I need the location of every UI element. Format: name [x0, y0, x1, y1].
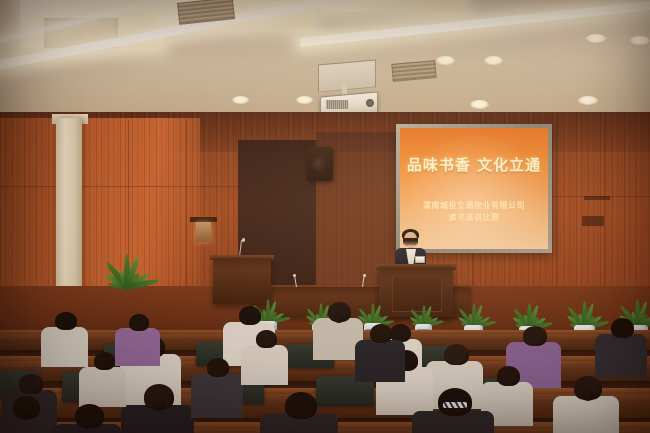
downlight-icon — [586, 34, 606, 43]
audience-member-torso — [41, 327, 88, 367]
audience-member-hair-bow — [443, 402, 467, 408]
wall-speaker-cone-icon — [312, 156, 328, 174]
audience-member-torso — [355, 340, 405, 382]
audience-member-head — [611, 318, 634, 338]
downlight-icon — [232, 96, 249, 104]
audience-member — [120, 314, 158, 352]
audience-member — [600, 318, 644, 362]
slide-subtitle-line-1: 渭南城投立通物业有限公司 — [400, 200, 548, 211]
wall-plaque — [582, 216, 604, 226]
downlight-icon — [436, 56, 455, 65]
audience-member-hair-bun — [334, 314, 344, 322]
projection-screen: 品味书香 文化立通 渭南城投立通物业有限公司 读书演讲比赛 — [396, 124, 552, 253]
audience-member-head — [285, 392, 317, 419]
projector-lens — [366, 99, 374, 107]
slide-title: 品味书香 文化立通 — [400, 154, 548, 175]
audience-member — [196, 358, 240, 402]
audience-seating — [0, 300, 650, 433]
wall-plaque — [584, 196, 610, 200]
audience-member — [486, 366, 530, 410]
audience-member-head — [444, 344, 469, 365]
downlight-icon — [470, 100, 489, 109]
audience-member-head — [497, 366, 520, 386]
audience-member-head — [19, 374, 43, 394]
audience-member-torso — [241, 345, 288, 385]
projection-screen-glow — [400, 128, 548, 249]
projection-screen-surface: 品味书香 文化立通 渭南城投立通物业有限公司 读书演讲比赛 — [400, 128, 548, 249]
wall-light-fixture — [196, 222, 211, 242]
audience-member-head — [239, 306, 261, 325]
audience-member-head — [207, 358, 229, 377]
wall-seam — [604, 118, 605, 296]
audience-member-torso — [115, 328, 160, 366]
projector-vent — [326, 100, 348, 109]
audience-member-head — [129, 314, 149, 331]
audience-member — [432, 344, 480, 392]
audience-member-hair-bun — [582, 391, 594, 401]
secondary-lectern-mic-head — [242, 238, 245, 242]
audience-member-head — [94, 352, 115, 370]
downlight-icon — [296, 96, 313, 104]
wall-seam — [186, 120, 187, 310]
wall-seam — [0, 186, 240, 187]
audience-member-torso — [553, 396, 619, 433]
audience-member-head — [523, 326, 547, 346]
conference-hall-photo: 品味书香 文化立通 渭南城投立通物业有限公司 读书演讲比赛 — [0, 0, 650, 433]
downlight-icon — [630, 36, 650, 45]
audience-member-head — [256, 330, 277, 348]
downlight-icon — [484, 56, 503, 65]
audience-member-hair-bun — [153, 400, 166, 411]
audience-member — [246, 330, 286, 370]
audience-member — [360, 324, 402, 366]
potted-plant — [96, 250, 158, 304]
audience-member — [46, 312, 86, 352]
microphone-head — [363, 274, 366, 277]
audience-member-head — [55, 312, 77, 330]
ceiling-vent-right — [391, 60, 436, 82]
audience-member-torso — [79, 367, 126, 407]
wall-seam — [556, 118, 557, 296]
wall-pilaster — [56, 118, 82, 310]
slide-subtitle-line-2: 读书演讲比赛 — [400, 212, 548, 223]
audience-member-torso — [191, 374, 243, 418]
audience-member-head — [370, 324, 392, 343]
audience-member — [0, 396, 52, 433]
audience-member-torso — [595, 334, 647, 378]
downlight-icon — [578, 96, 598, 105]
projector-ceiling-mount — [318, 59, 376, 92]
presenter-name-badge — [415, 256, 425, 263]
microphone-head — [293, 274, 296, 277]
audience-member — [318, 302, 360, 344]
